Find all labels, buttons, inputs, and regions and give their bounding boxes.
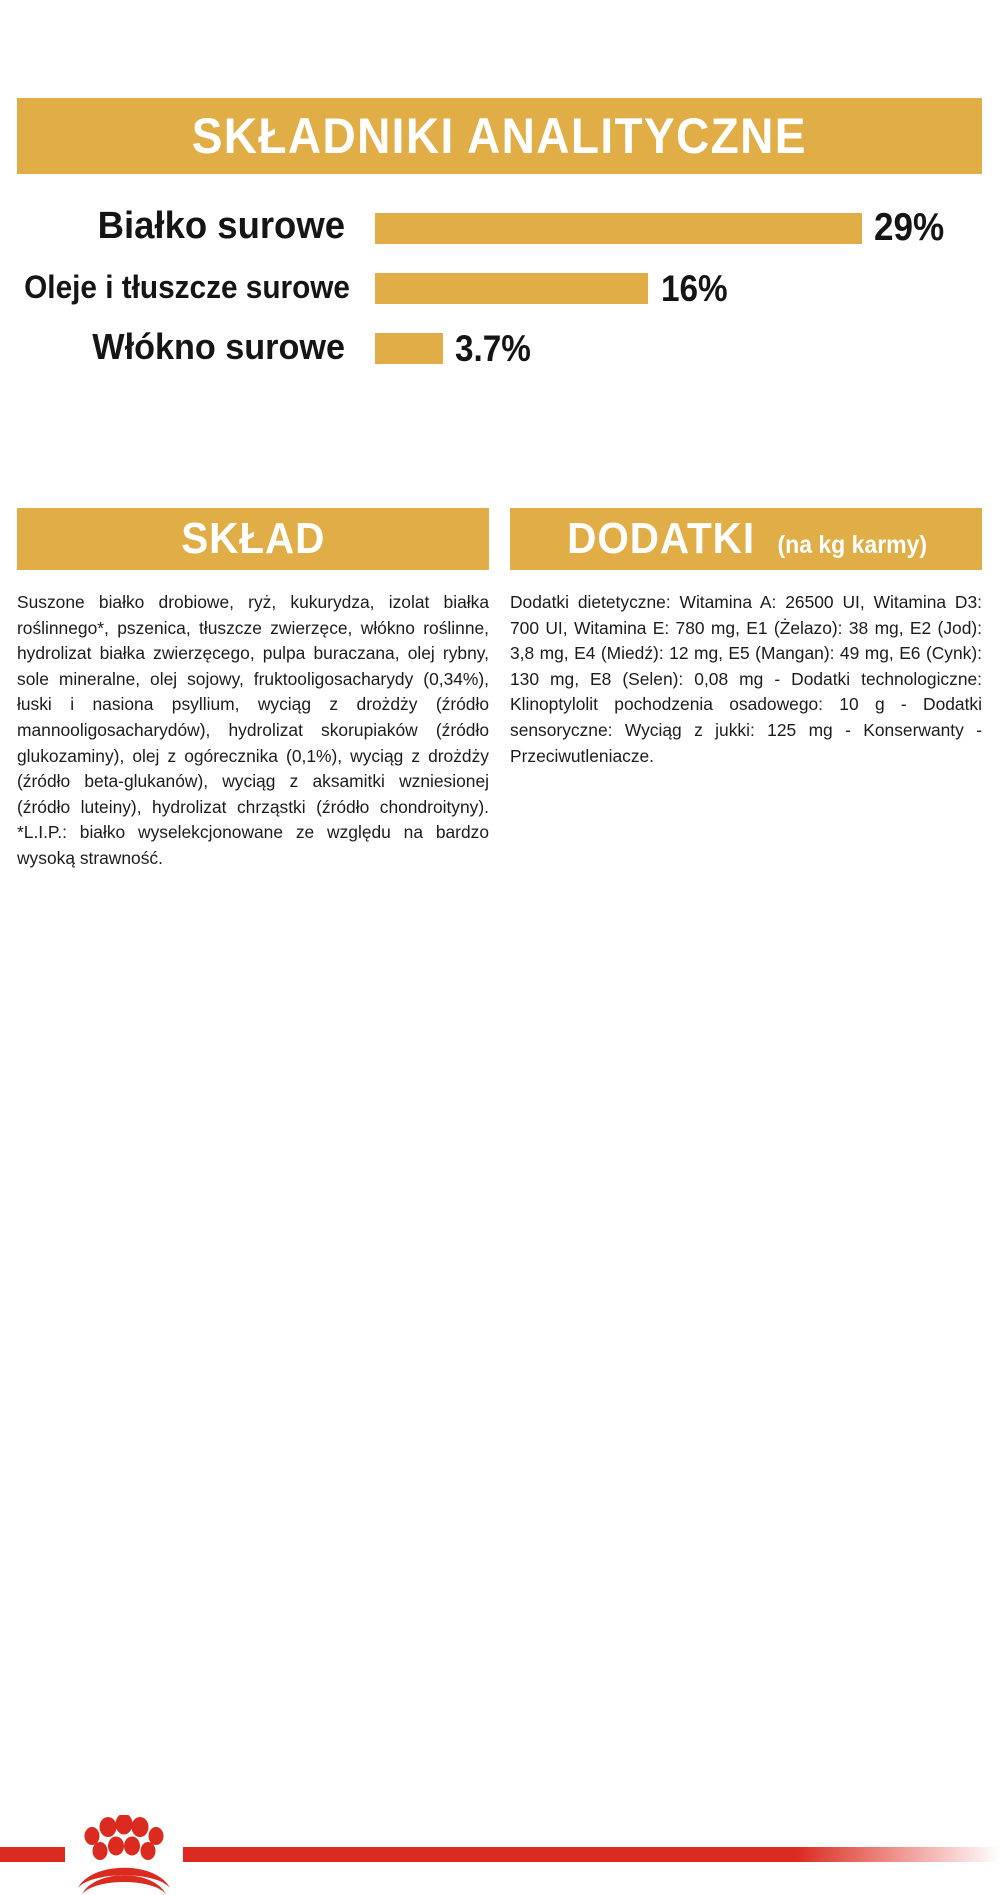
additives-header-subtitle: (na kg karmy) (777, 531, 927, 560)
analytical-constituents-header-bar: SKŁADNIKI ANALITYCZNE (17, 98, 982, 174)
chart-value-label: 29% (874, 206, 944, 250)
chart-value-label: 3.7% (455, 328, 531, 370)
additives-body-text: Dodatki dietetyczne: Witamina A: 26500 U… (510, 590, 982, 769)
composition-body-text: Suszone białko drobiowe, ryż, kukurydza,… (17, 590, 489, 872)
page-title: SKŁADNIKI ANALITYCZNE (192, 107, 807, 165)
chart-row: Włókno surowe 3.7% (0, 320, 1000, 380)
additives-header-inner: DODATKI (na kg karmy) (559, 514, 934, 564)
composition-header-bar: SKŁAD (17, 508, 489, 570)
chart-bar (375, 213, 862, 244)
chart-bar (375, 333, 443, 364)
additives-header-title: DODATKI (567, 514, 755, 564)
chart-row-label: Włókno surowe (17, 326, 345, 368)
royal-canin-crown-icon (64, 1815, 184, 1895)
additives-header-bar: DODATKI (na kg karmy) (510, 508, 982, 570)
footer-rule-left (0, 1847, 65, 1862)
chart-row-label: Białko surowe (14, 205, 345, 248)
footer-rule-right (183, 1847, 1000, 1862)
footer (0, 900, 1000, 1000)
composition-header-title: SKŁAD (181, 514, 325, 564)
analytical-constituents-bar-chart: Białko surowe 29% Oleje i tłuszcze surow… (0, 200, 1000, 380)
chart-value-label: 16% (661, 268, 728, 310)
chart-row-label: Oleje i tłuszcze surowe (24, 269, 345, 306)
chart-row: Oleje i tłuszcze surowe 16% (0, 260, 1000, 320)
chart-row: Białko surowe 29% (0, 200, 1000, 260)
chart-bar (375, 273, 648, 304)
